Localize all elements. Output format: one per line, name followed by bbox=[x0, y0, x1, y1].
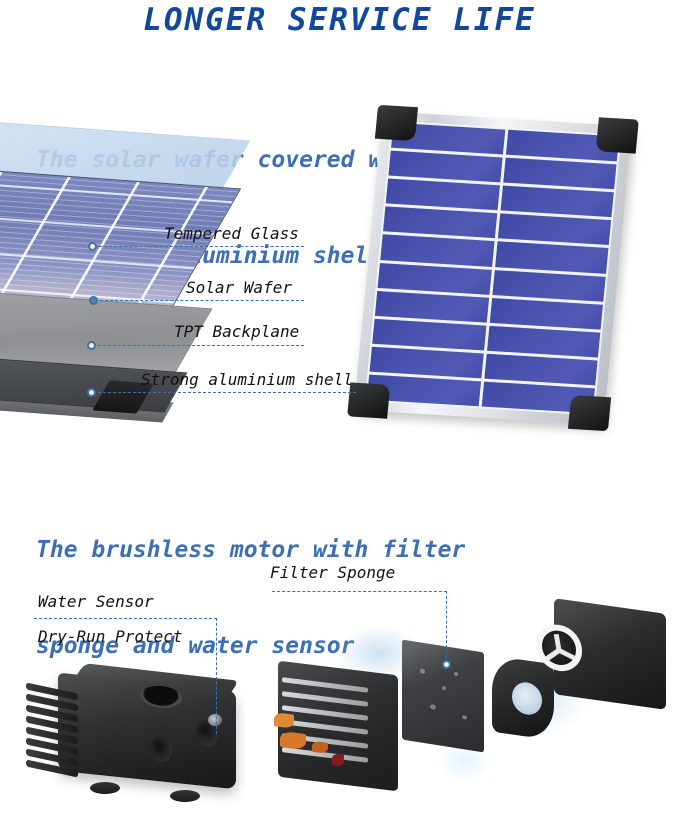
leader-line-tempered-glass bbox=[99, 246, 304, 247]
callout-solar-wafer: Solar Wafer bbox=[186, 278, 292, 297]
panel-corner-bottom-left bbox=[347, 382, 390, 418]
panel-cell bbox=[495, 242, 609, 274]
panel-cell bbox=[375, 291, 489, 323]
leader-line-filter-sponge bbox=[272, 591, 447, 592]
leader-line-filter-sponge-drop bbox=[446, 591, 447, 663]
panel-cell bbox=[386, 179, 500, 211]
marker-aluminium-shell bbox=[87, 388, 96, 397]
callout-tpt-backplane: TPT Backplane bbox=[174, 322, 299, 341]
pump-suction-cup-2 bbox=[170, 790, 200, 802]
panel-cell bbox=[487, 326, 601, 358]
panel-cell bbox=[378, 263, 492, 295]
panel-cell bbox=[380, 235, 494, 267]
leader-line-tpt-backplane bbox=[98, 345, 304, 346]
marker-tpt-backplane bbox=[87, 341, 96, 350]
callout-dry-run-protect: Dry-Run Protect bbox=[38, 627, 183, 646]
panel-corner-top-left bbox=[375, 105, 418, 141]
panel-corner-bottom-right bbox=[568, 395, 611, 431]
infographic-page: LONGER SERVICE LIFE The solar wafer cove… bbox=[0, 0, 679, 817]
leader-line-aluminium-shell bbox=[98, 392, 356, 393]
pump-exploded-assembly bbox=[270, 600, 679, 817]
panel-cell bbox=[500, 186, 614, 218]
debris-leaf-4 bbox=[332, 753, 344, 766]
panel-cell bbox=[484, 353, 598, 385]
impeller-disc bbox=[492, 656, 554, 741]
panel-cell bbox=[383, 207, 497, 239]
panel-cell-grid bbox=[365, 121, 622, 416]
pump-heading-line1: The brushless motor with filter bbox=[36, 534, 465, 566]
intake-cage bbox=[278, 661, 398, 792]
brushless-motor-housing bbox=[554, 598, 666, 710]
panel-cell bbox=[489, 298, 603, 330]
page-title: LONGER SERVICE LIFE bbox=[0, 2, 679, 38]
pump-cooling-fins bbox=[26, 682, 78, 779]
callout-water-sensor: Water Sensor bbox=[38, 592, 154, 611]
panel-cell bbox=[388, 151, 502, 183]
callout-aluminium-shell: Strong aluminium shell bbox=[141, 370, 353, 389]
impeller-disc-hole bbox=[512, 680, 542, 716]
panel-cell bbox=[492, 270, 606, 302]
pump-nozzle bbox=[208, 714, 222, 726]
callout-filter-sponge: Filter Sponge bbox=[270, 563, 395, 582]
marker-tempered-glass bbox=[88, 242, 97, 251]
leader-line-water-sensor bbox=[34, 618, 217, 619]
debris-leaf-3 bbox=[312, 741, 328, 754]
panel-cell bbox=[372, 319, 486, 351]
marker-filter-sponge bbox=[442, 660, 451, 669]
solar-panel-product-image bbox=[354, 111, 632, 425]
filter-sponge-block bbox=[402, 640, 484, 753]
leader-line-solar-wafer bbox=[100, 300, 304, 301]
debris-leaf-1 bbox=[274, 712, 294, 728]
panel-cell bbox=[503, 158, 617, 190]
marker-solar-wafer bbox=[89, 296, 98, 305]
panel-cell bbox=[497, 214, 611, 246]
pump-suction-cup-1 bbox=[90, 782, 120, 794]
leader-line-water-sensor-drop bbox=[216, 618, 217, 734]
panel-corner-top-right bbox=[596, 117, 639, 153]
panel-cell bbox=[370, 346, 484, 378]
debris-leaf-2 bbox=[280, 731, 306, 750]
callout-tempered-glass: Tempered Glass bbox=[164, 224, 299, 243]
